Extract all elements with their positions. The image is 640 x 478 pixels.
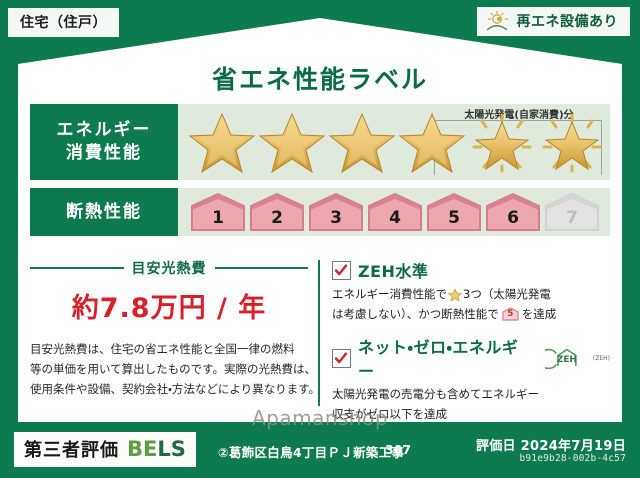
renewable-badge-label: 再エネ設備あり bbox=[517, 11, 619, 31]
evaluation-date: 評価日 2024年7月19日 bbox=[476, 435, 626, 454]
column-divider bbox=[318, 260, 320, 406]
criterion-body: 太陽光発電の売電分も含めてエネルギー 収支がゼロ以下を達成 bbox=[332, 385, 610, 424]
criterion-body-line-2: 収支がゼロ以下を達成 bbox=[332, 405, 610, 425]
cost-heading-label: 目安光熱費 bbox=[132, 258, 207, 278]
criterion-title: ZEH水準 bbox=[358, 258, 428, 282]
property-name: ②葛飾区白鳥4丁目ＰＪ新築工事 bbox=[218, 442, 404, 461]
star-icon bbox=[448, 288, 462, 302]
insulation-level-number: 7 bbox=[544, 208, 600, 228]
criteria-column: ZEH水準 エネルギー消費性能で 3つ（太陽光発電 は考慮しない）、かつ断熱性能… bbox=[332, 258, 610, 408]
energy-label-line1: エネルギー bbox=[57, 119, 152, 142]
cost-note-line-3: 使用条件や設備、契約会社・方法などにより異なります。 bbox=[30, 379, 308, 399]
insulation-level-2: 2 bbox=[249, 192, 305, 232]
star-filled bbox=[188, 109, 256, 175]
bels-japanese-label: 第三者評価 bbox=[24, 436, 119, 462]
star-solar-sparkle bbox=[468, 109, 536, 175]
criterion-zeh-level: ZEH水準 エネルギー消費性能で 3つ（太陽光発電 は考慮しない）、かつ断熱性能… bbox=[332, 258, 610, 324]
criterion-header: ZEH水準 bbox=[332, 258, 610, 282]
criterion-body-line-2: は考慮しない）、かつ断熱性能で 5 を達成 bbox=[332, 305, 610, 325]
criterion-body-line-1: エネルギー消費性能で 3つ（太陽光発電 bbox=[332, 285, 610, 305]
rule-right bbox=[215, 267, 309, 269]
criterion-body: エネルギー消費性能で 3つ（太陽光発電 は考慮しない）、かつ断熱性能で 5 bbox=[332, 285, 610, 324]
insulation-label: 断熱性能 bbox=[66, 201, 142, 224]
insulation-level-1: 1 bbox=[190, 192, 246, 232]
cost-value: 約7.8万円 / 年 bbox=[30, 286, 308, 325]
label-subtitle: 建築物省エネ法に基づく bbox=[0, 40, 640, 60]
insulation-level-7: 7 bbox=[544, 192, 600, 232]
criterion-text-post: を達成 bbox=[522, 305, 557, 325]
insulation-level-number: 3 bbox=[308, 208, 364, 228]
energy-stars-panel: 太陽光発電(自家消費)分 bbox=[178, 104, 610, 180]
insulation-level-number: 5 bbox=[426, 208, 482, 228]
insulation-level-number: 6 bbox=[485, 208, 541, 228]
cost-heading: 目安光熱費 bbox=[30, 258, 308, 278]
label-title: 省エネ性能ラベル bbox=[0, 60, 640, 96]
insulation-label-box: 断熱性能 bbox=[30, 188, 178, 236]
checkbox-checked bbox=[332, 349, 351, 368]
checkbox-checked bbox=[332, 261, 351, 280]
zeh-logo-icon: ZEH bbox=[545, 347, 585, 369]
star-filled bbox=[328, 109, 396, 175]
criterion-title: ネット・ゼロ・エネルギー bbox=[358, 334, 534, 382]
performance-section: エネルギー 消費性能 太陽光発電(自家消費)分 bbox=[30, 104, 610, 244]
insulation-performance-row: 断熱性能 1 2 bbox=[30, 188, 610, 236]
insulation-badge-inline: 5 bbox=[502, 307, 519, 321]
criterion-header: ネット・ゼロ・エネルギー ZEH (ZEH) bbox=[332, 334, 610, 382]
property-number: 307 bbox=[385, 442, 411, 457]
criterion-body-line-1: 太陽光発電の売電分も含めてエネルギー bbox=[332, 385, 610, 405]
criterion-text-mid: は考慮しない）、かつ断熱性能で bbox=[332, 305, 499, 325]
footer-bar: 第三者評価 BELS ②葛飾区白鳥4丁目ＰＪ新築工事 307 評価日 2024年… bbox=[0, 426, 640, 478]
insulation-level-number: 4 bbox=[367, 208, 423, 228]
energy-cost-column: 目安光熱費 約7.8万円 / 年 目安光熱費は、住宅の省エネ性能と全国一律の燃料… bbox=[30, 258, 318, 408]
evaluation-id: b91e9b28-002b-4c57 bbox=[519, 453, 626, 464]
cost-note-line-1: 目安光熱費は、住宅の省エネ性能と全国一律の燃料 bbox=[30, 339, 308, 359]
criterion-text-stars: 3つ（太陽光発電 bbox=[463, 285, 551, 305]
svg-text:ZEH: ZEH bbox=[557, 355, 577, 365]
insulation-level-number: 2 bbox=[249, 208, 305, 228]
bels-logo-part1: BE bbox=[127, 437, 157, 461]
bels-logo: BELS bbox=[127, 437, 186, 461]
insulation-level-5: 5 bbox=[426, 192, 482, 232]
details-section: 目安光熱費 約7.8万円 / 年 目安光熱費は、住宅の省エネ性能と全国一律の燃料… bbox=[30, 258, 610, 408]
insulation-level-number: 1 bbox=[190, 208, 246, 228]
rule-left bbox=[30, 267, 124, 269]
insulation-scale-panel: 1 2 3 4 bbox=[178, 188, 610, 236]
energy-label-line2: 消費性能 bbox=[66, 142, 142, 165]
energy-performance-label: 住宅（住戸） 再エネ設備あり 建築物省エネ法に基づく 省エネ性能ラベル エネルギ… bbox=[0, 0, 640, 478]
energy-performance-label-box: エネルギー 消費性能 bbox=[30, 104, 178, 180]
star-filled bbox=[258, 109, 326, 175]
criterion-net-zero-energy: ネット・ゼロ・エネルギー ZEH (ZEH) 太陽光発電の売電分も含めてエネルギ… bbox=[332, 334, 610, 424]
check-icon bbox=[334, 351, 348, 365]
bels-logo-part2: LS bbox=[157, 437, 186, 461]
insulation-levels: 1 2 3 4 bbox=[178, 192, 600, 232]
energy-performance-row: エネルギー 消費性能 太陽光発電(自家消費)分 bbox=[30, 104, 610, 180]
star-filled bbox=[398, 109, 466, 175]
renewable-equipment-badge: 再エネ設備あり bbox=[477, 7, 631, 36]
insulation-badge-value: 5 bbox=[507, 307, 513, 322]
star-solar-sparkle bbox=[538, 109, 606, 175]
insulation-level-4: 4 bbox=[367, 192, 423, 232]
insulation-level-6: 6 bbox=[485, 192, 541, 232]
check-icon bbox=[334, 263, 348, 277]
criterion-text-pre: エネルギー消費性能で bbox=[332, 285, 447, 305]
category-tag: 住宅（住戸） bbox=[8, 8, 119, 37]
star-rating bbox=[178, 109, 606, 175]
sun-icon bbox=[485, 10, 511, 32]
zeh-logo-caption: (ZEH) bbox=[593, 355, 610, 362]
cost-note-line-2: 等の単価を用いて算出したものです。実際の光熱費は、 bbox=[30, 359, 308, 379]
cost-note: 目安光熱費は、住宅の省エネ性能と全国一律の燃料 等の単価を用いて算出したものです… bbox=[30, 339, 308, 399]
bels-certification-box: 第三者評価 BELS bbox=[14, 432, 196, 467]
insulation-level-3: 3 bbox=[308, 192, 364, 232]
